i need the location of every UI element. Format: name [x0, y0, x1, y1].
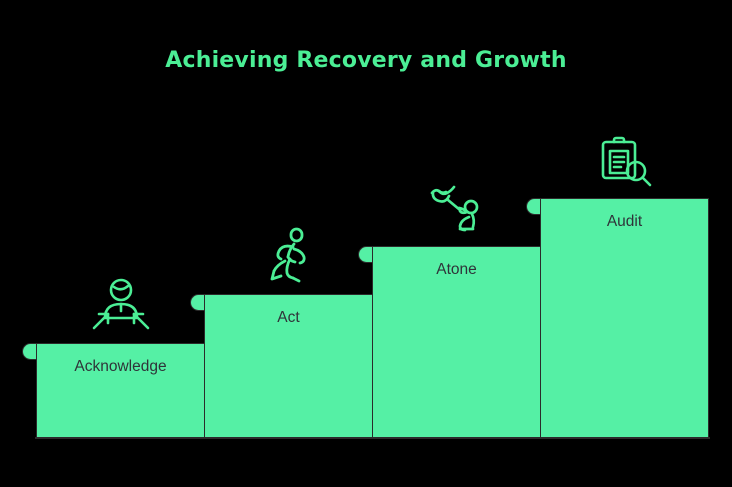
step-bar-acknowledge[interactable]: Acknowledge [36, 343, 205, 438]
running-person-icon [261, 227, 317, 283]
person-with-inward-arrows-icon [92, 278, 150, 330]
clipboard-magnifier-icon [594, 134, 654, 188]
step-label-audit: Audit [541, 213, 708, 231]
step-bar-atone[interactable]: Atone [372, 246, 541, 438]
chart-canvas: Achieving Recovery and Growth Acknowledg… [0, 0, 732, 487]
step-label-act: Act [205, 309, 372, 327]
chart-baseline [35, 437, 710, 439]
step-bar-audit[interactable]: Audit [540, 198, 709, 438]
person-releasing-bird-icon [426, 179, 484, 233]
step-label-acknowledge: Acknowledge [37, 358, 204, 376]
chart-title: Achieving Recovery and Growth [0, 48, 732, 73]
step-bar-act[interactable]: Act [204, 294, 373, 438]
step-label-atone: Atone [373, 261, 540, 279]
